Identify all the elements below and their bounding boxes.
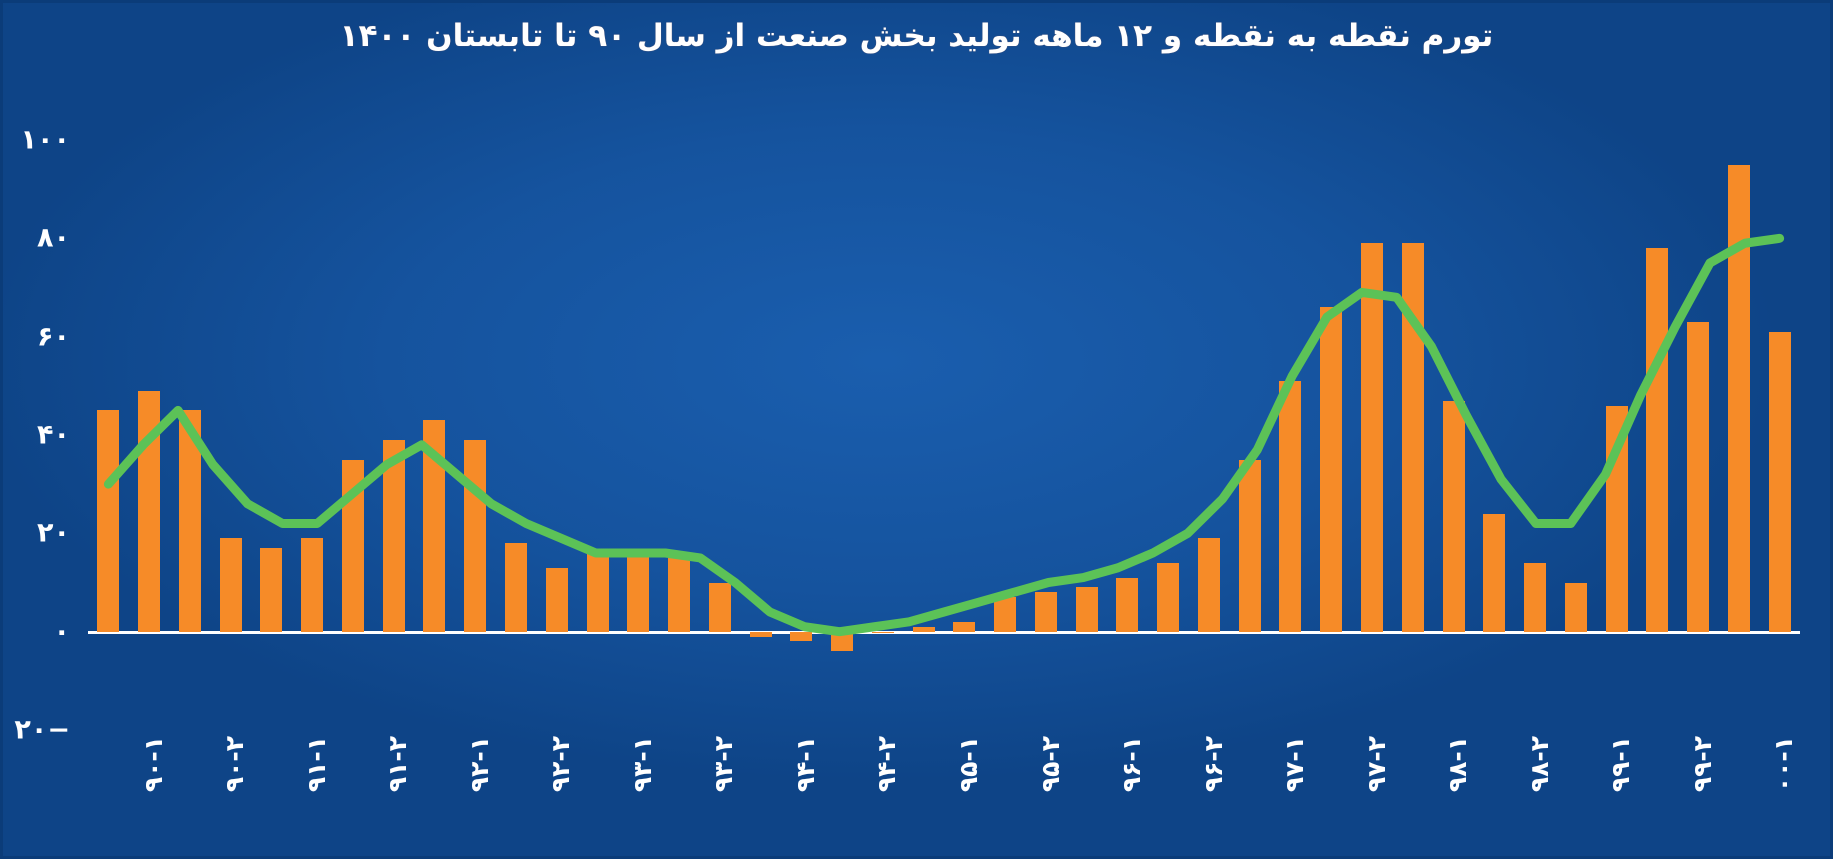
y-axis-tick: ۱۰۰ — [21, 125, 70, 156]
x-axis-tick: ۹۷-۱ — [1280, 736, 1309, 792]
x-axis-tick: ۹۲-۲ — [546, 736, 575, 792]
x-axis-tick: ۹۱-۲ — [383, 736, 412, 792]
x-axis-tick: ۹۵-۱ — [954, 736, 983, 792]
plot-area — [88, 140, 1800, 730]
chart-title: تورم نقطه به نقطه و ۱۲ ماهه تولید بخش صن… — [0, 18, 1833, 54]
y-axis-tick: ۰ — [54, 616, 70, 647]
y-axis: ۱۰۰۸۰۶۰۴۰۲۰۰−۲۰ — [0, 140, 84, 730]
y-axis-tick: ۲۰ — [37, 518, 70, 549]
x-axis-tick: ۹۹-۱ — [1606, 736, 1635, 792]
y-axis-tick: ۴۰ — [37, 420, 70, 451]
x-axis-tick: ۹۶-۲ — [1199, 736, 1228, 792]
x-axis-labels: ۹۰-۱۹۰-۲۹۱-۱۹۱-۲۹۲-۱۹۲-۲۹۳-۱۹۳-۲۹۴-۱۹۴-۲… — [88, 736, 1800, 854]
x-axis-tick: ۰۰-۱ — [1769, 736, 1798, 792]
x-axis-tick: ۹۴-۱ — [791, 736, 820, 792]
x-axis-tick: ۹۳-۲ — [709, 736, 738, 792]
x-axis-tick: ۹۲-۱ — [465, 736, 494, 792]
y-axis-tick: ۶۰ — [37, 321, 70, 352]
y-axis-tick: ۸۰ — [37, 223, 70, 254]
x-axis-tick: ۹۶-۱ — [1117, 736, 1146, 792]
x-axis-tick: ۹۰-۲ — [220, 736, 249, 792]
x-axis-tick: ۹۴-۲ — [872, 736, 901, 792]
x-axis-tick: ۹۷-۲ — [1362, 736, 1391, 792]
x-axis-tick: ۹۵-۲ — [1036, 736, 1065, 792]
trend-line — [108, 238, 1779, 631]
x-axis-tick: ۹۳-۱ — [628, 736, 657, 792]
line-series — [88, 140, 1800, 730]
x-axis-tick: ۹۰-۱ — [139, 736, 168, 792]
y-axis-tick: −۲۰ — [14, 715, 70, 746]
x-axis-tick: ۹۸-۲ — [1525, 736, 1554, 792]
x-axis-tick: ۹۱-۱ — [302, 736, 331, 792]
x-axis-tick: ۹۹-۲ — [1688, 736, 1717, 792]
x-axis-tick: ۹۸-۱ — [1443, 736, 1472, 792]
